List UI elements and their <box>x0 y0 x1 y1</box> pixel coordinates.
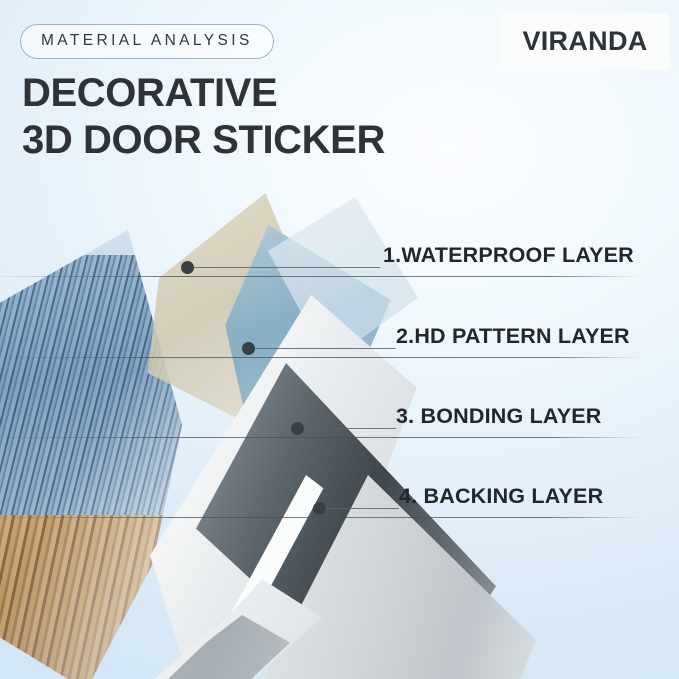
callout-rule-4 <box>0 517 641 518</box>
page-title: DECORATIVE 3D DOOR STICKER <box>22 70 385 164</box>
callout-rule-1 <box>0 276 641 277</box>
callout-rule-3 <box>0 437 641 438</box>
callout-leader-2 <box>255 348 396 349</box>
callout-dot-2 <box>242 342 255 355</box>
callout-dot-4 <box>313 502 326 515</box>
callout-leader-1 <box>194 267 380 268</box>
callout-leader-3 <box>304 428 396 429</box>
callout-rule-2 <box>0 357 641 358</box>
brand-name: VIRANDA <box>522 26 647 57</box>
callout-label-4: 4. BACKING LAYER <box>399 484 603 509</box>
callout-label-1: 1.WATERPROOF LAYER <box>383 243 634 268</box>
title-line-1: DECORATIVE <box>22 71 277 115</box>
callout-label-3: 3. BONDING LAYER <box>396 404 602 429</box>
callout-label-2: 2.HD PATTERN LAYER <box>396 324 630 349</box>
eyebrow-badge: MATERIAL ANALYSIS <box>20 24 274 59</box>
callout-leader-4 <box>326 508 399 509</box>
title-line-2: 3D DOOR STICKER <box>22 117 385 164</box>
callout-dot-3 <box>291 422 304 435</box>
callout-dot-1 <box>181 261 194 274</box>
infographic-canvas: MATERIAL ANALYSIS DECORATIVE 3D DOOR STI… <box>0 0 679 679</box>
brand-logo-box: VIRANDA <box>502 14 668 69</box>
